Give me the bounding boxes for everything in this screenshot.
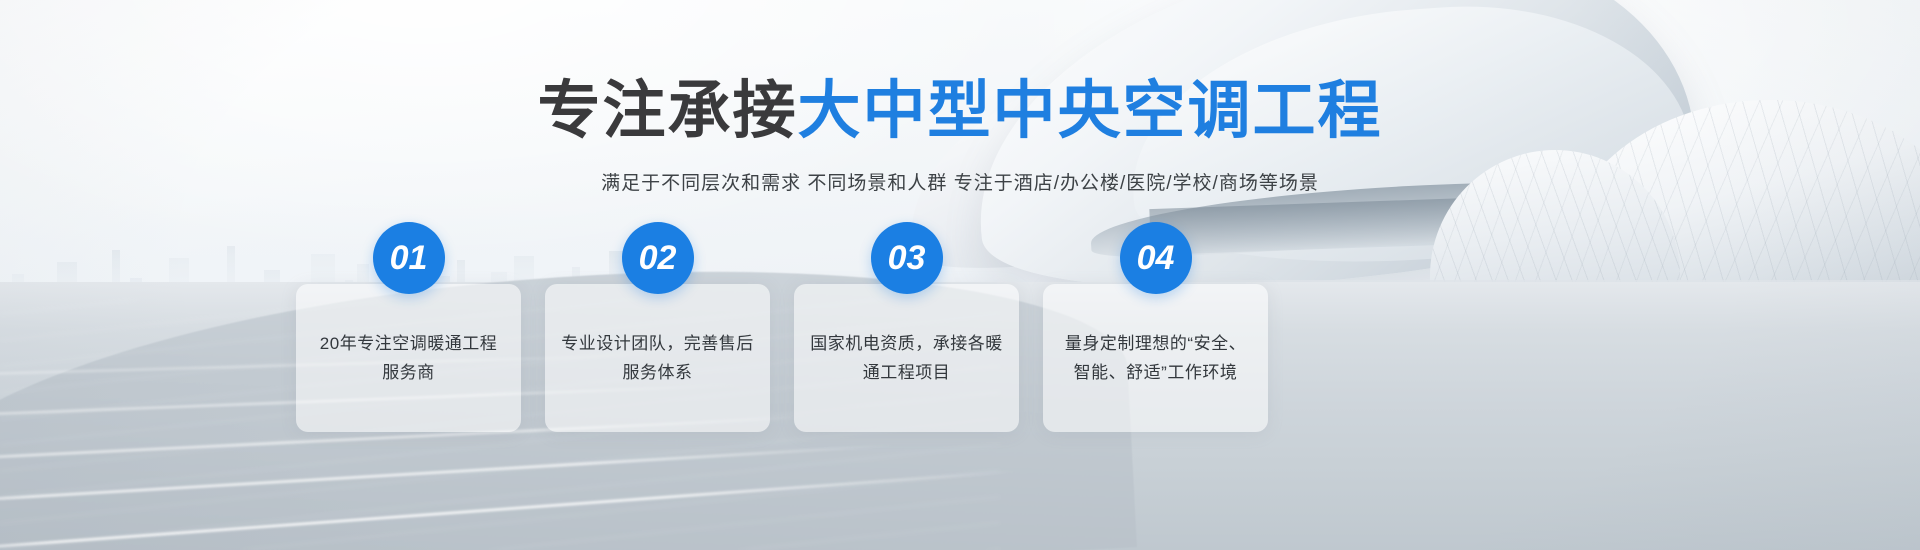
card-description: 20年专注空调暖通工程服务商 bbox=[296, 329, 521, 387]
card-number-badge: 04 bbox=[1120, 222, 1192, 294]
feature-card[interactable]: 03国家机电资质，承接各暖通工程项目 bbox=[794, 284, 1019, 432]
card-description: 量身定制理想的“安全、智能、舒适”工作环境 bbox=[1043, 329, 1268, 387]
headline-accent: 大中型中央空调工程 bbox=[798, 76, 1383, 146]
headline-prefix: 专注承接 bbox=[538, 76, 798, 146]
feature-card-list: 0120年专注空调暖通工程服务商02专业设计团队，完善售后服务体系03国家机电资… bbox=[296, 222, 1526, 432]
card-number-label: 01 bbox=[390, 241, 428, 275]
card-number-badge: 02 bbox=[622, 222, 694, 294]
card-number-badge: 01 bbox=[373, 222, 445, 294]
page-title: 专注承接大中型中央空调工程 bbox=[0, 80, 1920, 143]
feature-card[interactable]: 02专业设计团队，完善售后服务体系 bbox=[545, 284, 770, 432]
card-number-label: 04 bbox=[1137, 241, 1175, 275]
page-subtitle: 满足于不同层次和需求 不同场景和人群 专注于酒店/办公楼/医院/学校/商场等场景 bbox=[0, 171, 1920, 198]
feature-card[interactable]: 04量身定制理想的“安全、智能、舒适”工作环境 bbox=[1043, 284, 1268, 432]
hero-banner: 专注承接大中型中央空调工程 满足于不同层次和需求 不同场景和人群 专注于酒店/办… bbox=[0, 0, 1920, 550]
card-description: 专业设计团队，完善售后服务体系 bbox=[545, 329, 770, 387]
card-number-label: 03 bbox=[888, 241, 926, 275]
card-number-badge: 03 bbox=[871, 222, 943, 294]
card-description: 国家机电资质，承接各暖通工程项目 bbox=[794, 329, 1019, 387]
feature-card[interactable]: 0120年专注空调暖通工程服务商 bbox=[296, 284, 521, 432]
card-number-label: 02 bbox=[639, 241, 677, 275]
